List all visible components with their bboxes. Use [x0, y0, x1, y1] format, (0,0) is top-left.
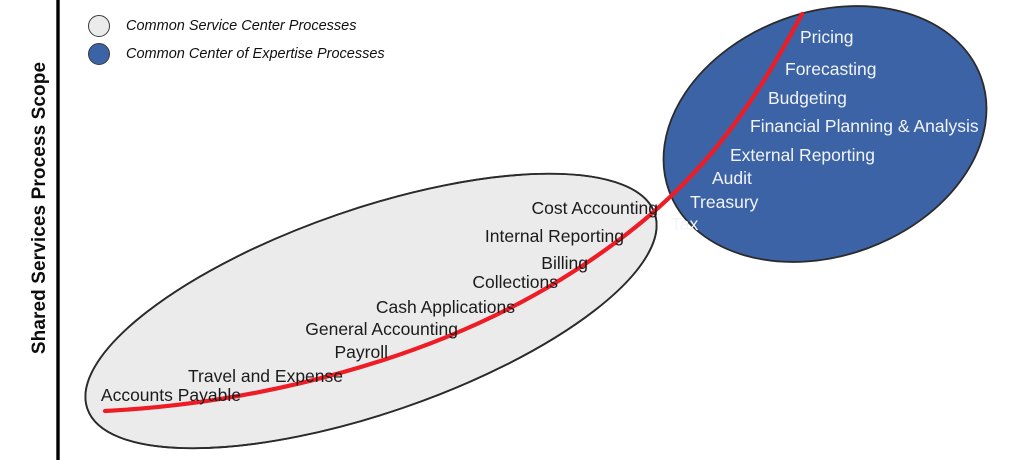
process-label-external-reporting[interactable]: External Reporting: [730, 147, 875, 165]
blue-circle-swatch: [88, 43, 110, 65]
process-label-financial-planning-analysis[interactable]: Financial Planning & Analysis: [750, 118, 979, 136]
process-label-accounts-payable[interactable]: Accounts Payable: [101, 387, 241, 405]
process-label-collections[interactable]: Collections: [472, 274, 558, 292]
diagram-canvas: Shared Services Process Scope Common Ser…: [0, 0, 1022, 460]
legend: Common Service Center Processes Common C…: [88, 12, 385, 68]
gray-circle-swatch: [88, 15, 110, 37]
legend-label-center-of-expertise: Common Center of Expertise Processes: [126, 46, 385, 62]
process-label-general-accounting[interactable]: General Accounting: [305, 321, 458, 339]
legend-item-service-center[interactable]: Common Service Center Processes: [88, 12, 385, 40]
process-label-billing[interactable]: Billing: [541, 255, 588, 273]
process-label-cash-applications[interactable]: Cash Applications: [376, 299, 515, 317]
process-label-internal-reporting[interactable]: Internal Reporting: [485, 228, 624, 246]
process-label-travel-and-expense[interactable]: Travel and Expense: [188, 368, 343, 386]
process-label-treasury[interactable]: Treasury: [690, 194, 758, 212]
process-label-forecasting[interactable]: Forecasting: [785, 61, 876, 79]
process-label-audit[interactable]: Audit: [712, 170, 752, 188]
process-label-tax[interactable]: Tax: [671, 216, 698, 234]
y-axis-title: Shared Services Process Scope: [29, 43, 51, 373]
process-label-pricing[interactable]: Pricing: [800, 29, 854, 47]
process-label-payroll[interactable]: Payroll: [335, 344, 389, 362]
legend-label-service-center: Common Service Center Processes: [126, 18, 356, 34]
process-label-cost-accounting[interactable]: Cost Accounting: [532, 200, 658, 218]
legend-item-center-of-expertise[interactable]: Common Center of Expertise Processes: [88, 40, 385, 68]
process-label-budgeting[interactable]: Budgeting: [768, 90, 847, 108]
